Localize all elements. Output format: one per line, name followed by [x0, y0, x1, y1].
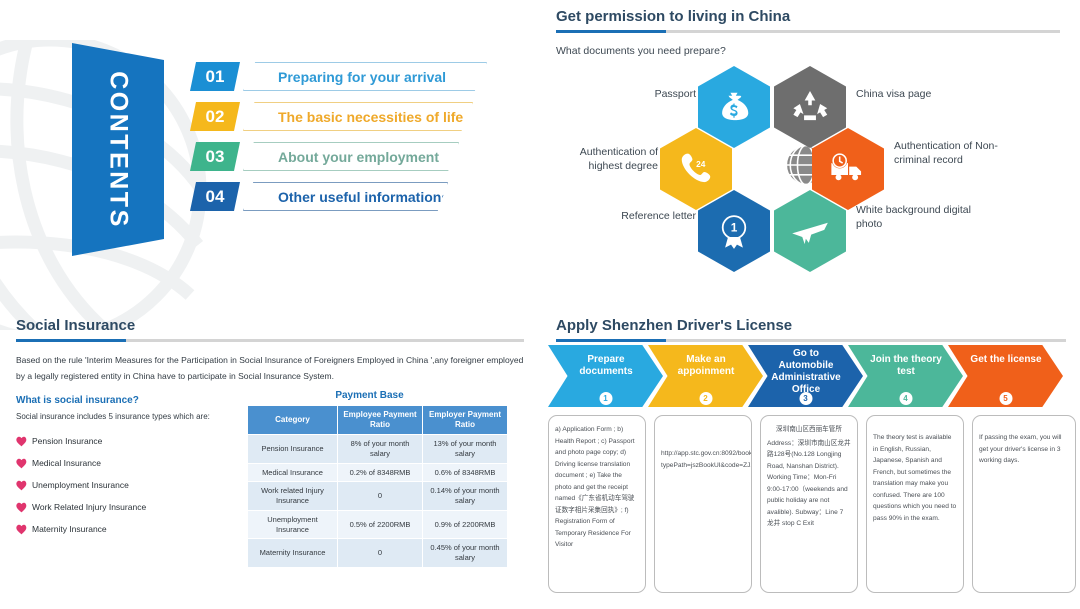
note-automobile-office: 深圳南山区西丽车管所 Address：深圳市南山区龙井路128号(No.128 …	[760, 415, 858, 593]
note-theory-test: The theory test is available in English,…	[866, 415, 964, 593]
table-cell: 0	[338, 539, 423, 568]
step-label: Join the theory test	[848, 345, 963, 378]
step-go-to-automobile-administrative-office[interactable]: Go to Automobile Administrative Office 3	[748, 345, 863, 407]
step-make-an-appoinment[interactable]: Make an appoinment 2	[648, 345, 763, 407]
contents-section: CONTENTS 01 Preparing for your arrival 0…	[0, 0, 540, 305]
table-cell: 0	[338, 482, 423, 511]
step-number: 1	[599, 392, 612, 405]
permission-subtitle: What documents you need prepare?	[556, 45, 1060, 57]
heart-icon	[16, 458, 27, 469]
driver-license-section: Apply Shenzhen Driver's License Prepare …	[540, 305, 1080, 609]
permission-title-rule	[556, 30, 1060, 33]
phone-24h-icon: 24	[677, 150, 715, 188]
award-medal-icon: 1	[715, 212, 753, 250]
step-label: Make an appoinment	[648, 345, 763, 378]
note-text: a) Application Form ; b) Health Report ;…	[555, 426, 635, 548]
slide-page: CONTENTS 01 Preparing for your arrival 0…	[0, 0, 1080, 609]
step-label: Go to Automobile Administrative Office	[748, 345, 863, 396]
payment-base-table: Category Employee Payment Ratio Employer…	[247, 405, 508, 568]
step-label: Get the license	[948, 345, 1063, 366]
contents-item-01[interactable]: 01 Preparing for your arrival	[190, 62, 490, 91]
social-insurance-title: Social Insurance	[16, 317, 524, 334]
heart-icon	[16, 480, 27, 491]
table-cell: Maternity Insurance	[248, 539, 338, 568]
contents-item-number: 04	[190, 182, 240, 211]
table-cell: Work related Injury Insurance	[248, 482, 338, 511]
contents-item-label: Other useful informations	[244, 189, 449, 205]
social-insurance-paragraph: Based on the rule 'Interim Measures for …	[16, 352, 524, 384]
permission-title: Get permission to living in China	[556, 8, 1060, 25]
hexagon-label-authentication-non-criminal: Authentication of Non-criminal record	[894, 140, 1024, 167]
table-header-cell: Employer Payment Ratio	[423, 406, 508, 435]
hexagon-diagram: Passport China visa page 24 Authenticati…	[540, 58, 1080, 288]
table-cell: Medical Insurance	[248, 463, 338, 482]
step-join-the-theory-test[interactable]: Join the theory test 4	[848, 345, 963, 407]
hexagon-label-reference-letter: Reference letter	[586, 210, 696, 224]
contents-item-number: 02	[190, 102, 240, 131]
contents-list: 01 Preparing for your arrival 02 The bas…	[190, 62, 490, 222]
contents-item-label: About your employment	[244, 149, 439, 165]
list-item-label: Unemployment Insurance	[32, 480, 129, 490]
hexagon-label-white-background-photo: White background digital photo	[856, 204, 986, 231]
table-header-cell: Category	[248, 406, 338, 435]
driver-license-steps: Prepare documents 1 Make an appoinment 2…	[548, 345, 1078, 407]
money-bag-icon	[715, 88, 753, 126]
contents-item-04[interactable]: 04 Other useful informations	[190, 182, 490, 211]
contents-item-bar: About your employment	[243, 142, 459, 171]
note-text: If passing the exam, you will get your d…	[979, 424, 1069, 467]
list-item-label: Pension Insurance	[32, 436, 102, 446]
driver-license-title: Apply Shenzhen Driver's License	[556, 317, 1066, 334]
payment-base-table-wrap: Payment Base Category Employee Payment R…	[247, 390, 492, 568]
svg-text:24: 24	[696, 159, 706, 169]
note-text: http://app.stc.gov.cn:8092/book/?typePat…	[661, 424, 745, 471]
table-row: Work related Injury Insurance 0 0.14% of…	[248, 482, 508, 511]
contents-item-03[interactable]: 03 About your employment	[190, 142, 490, 171]
table-cell: 0.5% of 2200RMB	[338, 510, 423, 539]
contents-item-number: 03	[190, 142, 240, 171]
heart-icon	[16, 436, 27, 447]
note-text: Address：深圳市南山区龙井路128号(No.128 Longjing Ro…	[767, 440, 851, 528]
list-item-label: Medical Insurance	[32, 458, 101, 468]
contents-item-bar: Other useful informations	[243, 182, 448, 211]
table-row: Maternity Insurance 0 0.45% of your mont…	[248, 539, 508, 568]
svg-text:1: 1	[731, 221, 738, 235]
table-cell: 13% of your month salary	[423, 435, 508, 464]
hexagon-label-passport: Passport	[608, 88, 696, 102]
contents-item-label: Preparing for your arrival	[244, 69, 446, 85]
table-header-cell: Employee Payment Ratio	[338, 406, 423, 435]
table-cell: 0.14% of your month salary	[423, 482, 508, 511]
note-prepare-documents: a) Application Form ; b) Health Report ;…	[548, 415, 646, 593]
table-header-row: Category Employee Payment Ratio Employer…	[248, 406, 508, 435]
table-cell: 8% of your month salary	[338, 435, 423, 464]
note-text: The theory test is available in English,…	[873, 424, 957, 524]
table-cell: Pension Insurance	[248, 435, 338, 464]
heart-icon	[16, 502, 27, 513]
airplane-icon	[791, 212, 829, 250]
step-prepare-documents[interactable]: Prepare documents 1	[548, 345, 663, 407]
heart-icon	[16, 524, 27, 535]
list-item-label: Maternity Insurance	[32, 524, 107, 534]
table-cell: 0.6% of 8348RMB	[423, 463, 508, 482]
hexagon-label-authentication-highest-degree: Authentication of highest degree	[550, 146, 658, 173]
delivery-truck-icon	[829, 150, 867, 188]
table-row: Unemployment Insurance 0.5% of 2200RMB 0…	[248, 510, 508, 539]
payment-base-caption: Payment Base	[247, 390, 492, 401]
hexagon-label-china-visa-page: China visa page	[856, 88, 1006, 102]
contents-item-label: The basic necessities of life	[244, 109, 463, 125]
step-number: 3	[799, 392, 812, 405]
table-cell: Unemployment Insurance	[248, 510, 338, 539]
contents-item-number: 01	[190, 62, 240, 91]
table-cell: 0.45% of your month salary	[423, 539, 508, 568]
contents-banner: CONTENTS	[72, 43, 164, 256]
permission-section: Get permission to living in China What d…	[540, 0, 1080, 305]
table-row: Medical Insurance 0.2% of 8348RMB 0.6% o…	[248, 463, 508, 482]
note-get-license: If passing the exam, you will get your d…	[972, 415, 1076, 593]
note-make-an-appoinment: http://app.stc.gov.cn:8092/book/?typePat…	[654, 415, 752, 593]
table-cell: 0.9% of 2200RMB	[423, 510, 508, 539]
step-label: Prepare documents	[548, 345, 663, 378]
table-row: Pension Insurance 8% of your month salar…	[248, 435, 508, 464]
contents-item-02[interactable]: 02 The basic necessities of life	[190, 102, 490, 131]
contents-banner-label: CONTENTS	[104, 71, 133, 229]
step-number: 4	[899, 392, 912, 405]
contents-item-bar: The basic necessities of life	[243, 102, 473, 131]
social-insurance-section: Social Insurance Based on the rule 'Inte…	[0, 305, 540, 609]
driver-license-title-rule	[556, 339, 1066, 342]
contents-item-bar: Preparing for your arrival	[243, 62, 487, 91]
recycle-icon	[791, 88, 829, 126]
table-cell: 0.2% of 8348RMB	[338, 463, 423, 482]
note-heading: 深圳南山区西丽车管所	[767, 424, 851, 436]
list-item-label: Work Related Injury Insurance	[32, 502, 146, 512]
step-number: 5	[999, 392, 1012, 405]
step-get-the-license[interactable]: Get the license 5	[948, 345, 1063, 407]
social-insurance-title-rule	[16, 339, 524, 342]
step-number: 2	[699, 392, 712, 405]
